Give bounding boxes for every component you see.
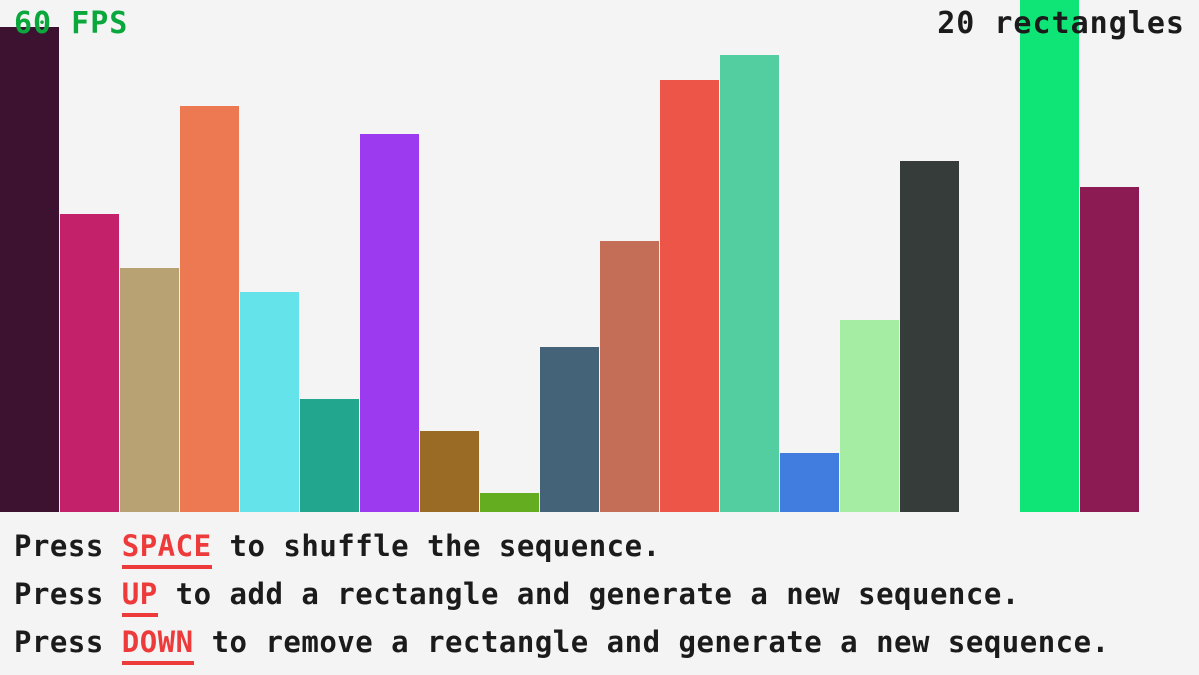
bar-10: [540, 347, 599, 512]
bar-18: [1020, 0, 1079, 512]
rectangle-demo-canvas: 60 FPS 20 rectangles Press SPACE to shuf…: [0, 0, 1199, 675]
key-badge-space[interactable]: SPACE: [122, 529, 212, 569]
instruction-suffix: to remove a rectangle and generate a new…: [194, 625, 1110, 659]
instruction-line-shuffle: Press SPACE to shuffle the sequence.: [14, 532, 661, 561]
instruction-line-add: Press UP to add a rectangle and generate…: [14, 580, 1020, 609]
bar-12: [660, 80, 719, 512]
bar-9: [480, 493, 539, 512]
bar-3: [120, 268, 179, 512]
instruction-prefix: Press: [14, 625, 122, 659]
instructions-panel: Press SPACE to shuffle the sequence. Pre…: [0, 512, 1199, 675]
instruction-suffix: to add a rectangle and generate a new se…: [158, 577, 1020, 611]
instruction-line-remove: Press DOWN to remove a rectangle and gen…: [14, 628, 1110, 657]
bar-1: [0, 27, 59, 512]
key-badge-down[interactable]: DOWN: [122, 625, 194, 665]
bar-16: [900, 161, 959, 512]
instruction-prefix: Press: [14, 529, 122, 563]
rectangle-count-label: 20 rectangles: [937, 9, 1185, 39]
bar-6: [300, 399, 359, 512]
bar-2: [60, 214, 119, 512]
instruction-prefix: Press: [14, 577, 122, 611]
bar-5: [240, 292, 299, 512]
bar-11: [600, 241, 659, 512]
key-badge-up[interactable]: UP: [122, 577, 158, 617]
bar-8: [420, 431, 479, 512]
fps-counter: 60 FPS: [14, 9, 128, 39]
bar-19: [1080, 187, 1139, 512]
bar-7: [360, 134, 419, 512]
bar-13: [720, 55, 779, 512]
bar-15: [840, 320, 899, 512]
bar-chart: [0, 0, 1199, 512]
instruction-suffix: to shuffle the sequence.: [212, 529, 661, 563]
bar-14: [780, 453, 839, 512]
bar-4: [180, 106, 239, 512]
